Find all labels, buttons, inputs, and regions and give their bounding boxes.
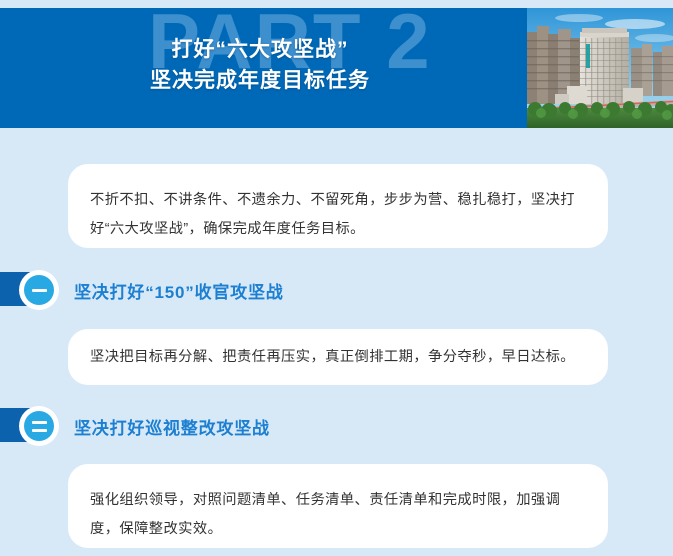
section-title-1: 坚决打好“150”收官攻坚战: [62, 278, 284, 303]
circle-one-bar-icon: [0, 270, 62, 310]
intro-card: 不折不扣、不讲条件、不遗余力、不留死角，步步为营、稳扎稳打，坚决打好“六大攻坚战…: [68, 164, 608, 248]
section-heading-2[interactable]: 坚决打好巡视整改攻坚战: [0, 406, 270, 446]
page-title-line-1: 打好“六大攻坚战”: [0, 34, 520, 65]
section-heading-1[interactable]: 坚决打好“150”收官攻坚战: [0, 270, 284, 310]
badge-bar-1: [32, 421, 47, 424]
section-title-2: 坚决打好巡视整改攻坚战: [62, 414, 270, 439]
section-body-card-1: 坚决把目标再分解、把责任再压实，真正倒排工期，争分夺秒，早日达标。: [68, 329, 608, 385]
circle-two-bar-icon: [0, 406, 62, 446]
banner-photo: [527, 8, 673, 128]
badge-bar-1: [32, 289, 47, 292]
section-body-card-2: 强化组织领导，对照问题清单、任务清单、责任清单和完成时限，加强调度，保障整改实效…: [68, 464, 608, 548]
badge-bar-2: [32, 429, 47, 432]
cityscape-photo-illustration: [527, 8, 673, 128]
page-title: 打好“六大攻坚战” 坚决完成年度目标任务: [0, 34, 520, 96]
page-title-line-2: 坚决完成年度目标任务: [0, 65, 520, 96]
page-banner: PART 2 打好“六大攻坚战” 坚决完成年度目标任务: [0, 8, 673, 128]
badge-disc: [24, 411, 54, 441]
